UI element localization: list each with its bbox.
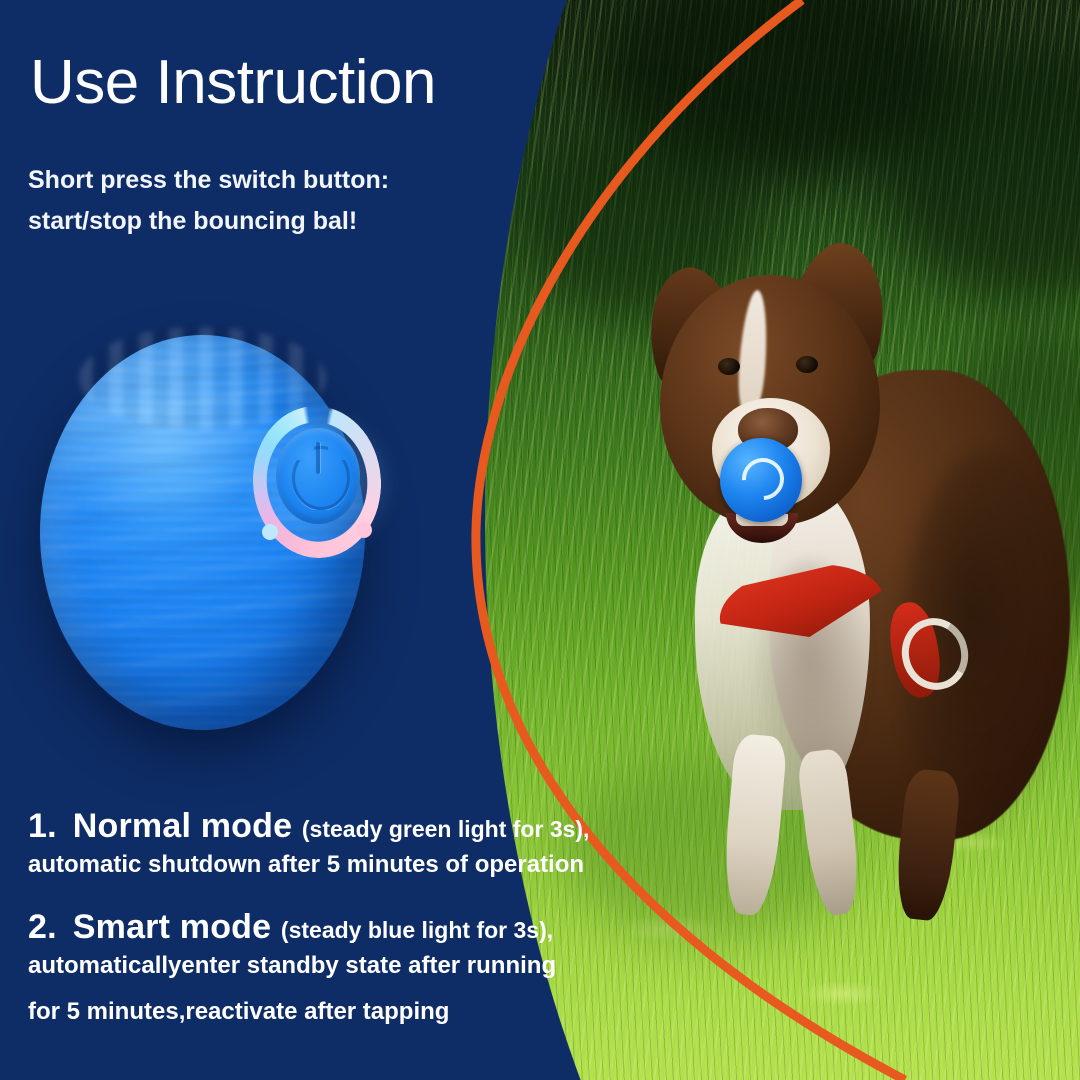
subtitle-line-1: Short press the switch button: <box>28 160 389 201</box>
mode-description: automatic shutdown after 5 minutes of op… <box>28 849 628 881</box>
mode-description: automaticallyenter standby state after r… <box>28 950 628 982</box>
mode-heading: 1.Normal mode (steady green light for 3s… <box>28 806 628 847</box>
mode-title: Smart mode <box>73 908 272 946</box>
dog-eye-left <box>718 358 740 375</box>
subtitle-block: Short press the switch button: start/sto… <box>28 160 389 241</box>
mode-paren: (steady blue light for 3s), <box>281 917 553 943</box>
led-ring-cap-right <box>356 522 372 538</box>
modes-list: 1.Normal mode (steady green light for 3s… <box>28 806 628 1054</box>
page-title: Use Instruction <box>30 50 436 115</box>
instructions-panel: Use Instruction Short press the switch b… <box>0 0 640 1080</box>
mode-heading: 2.Smart mode (steady blue light for 3s), <box>28 907 628 948</box>
subtitle-line-2: start/stop the bouncing bal! <box>28 201 389 242</box>
mode-paren: (steady green light for 3s), <box>302 816 590 842</box>
mode-number: 2. <box>28 908 57 946</box>
mode-title: Normal mode <box>73 807 292 845</box>
mode-description-2: for 5 minutes,reactivate after tapping <box>28 996 628 1028</box>
list-item: 2.Smart mode (steady blue light for 3s),… <box>28 907 628 1028</box>
dog-eye-right <box>796 356 818 373</box>
led-ring-cap-left <box>262 524 278 540</box>
infographic-page: Use Instruction Short press the switch b… <box>0 0 1080 1080</box>
dog-illustration <box>600 230 1070 930</box>
power-icon-bar <box>316 442 320 474</box>
mode-number: 1. <box>28 807 57 845</box>
list-item: 1.Normal mode (steady green light for 3s… <box>28 806 628 881</box>
